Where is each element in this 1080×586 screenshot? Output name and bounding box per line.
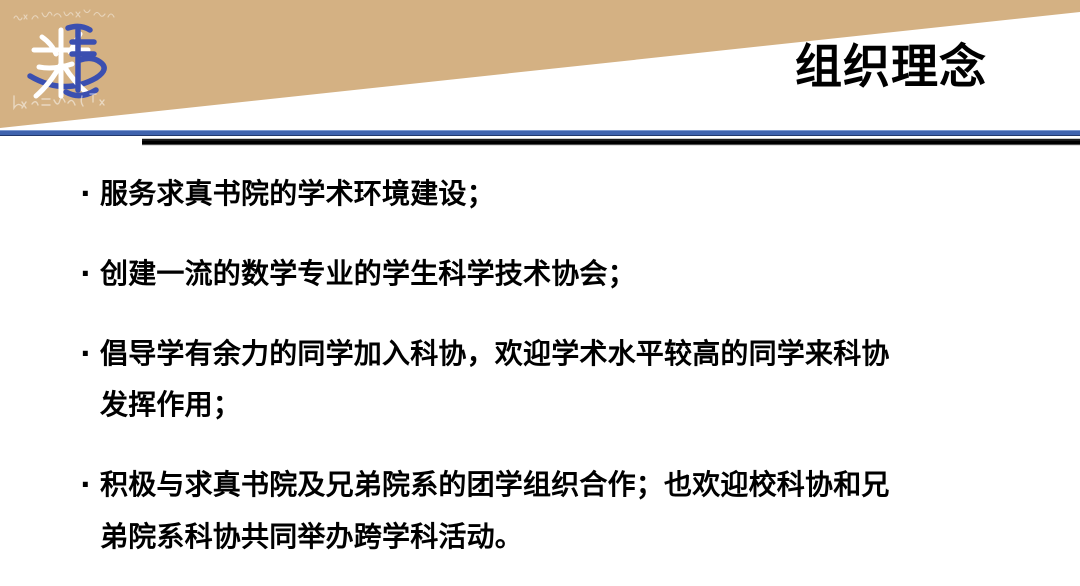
bullet-list: · 服务求真书院的学术环境建设； · 创建一流的数学专业的学生科学技术协会； ·…	[78, 168, 1038, 563]
list-item-line: 弟院系科协共同举办跨学科活动。	[100, 511, 1038, 563]
list-item-line: 创建一流的数学专业的学生科学技术协会；	[100, 248, 1038, 300]
divider-black	[142, 138, 1080, 146]
list-item: · 倡导学有余力的同学加入科协，欢迎学术水平较高的同学来科协 发挥作用；	[78, 328, 1038, 432]
list-item: · 创建一流的数学专业的学生科学技术协会；	[78, 248, 1038, 300]
list-item-line: 积极与求真书院及兄弟院系的团学组织合作；也欢迎校科协和兄	[100, 459, 1038, 511]
list-item: · 积极与求真书院及兄弟院系的团学组织合作；也欢迎校科协和兄 弟院系科协共同举办…	[78, 459, 1038, 563]
presentation-slide: 组织理念 · 服务求真书院的学术环境建设； · 创建一流的数学专业的学生科学技术…	[0, 0, 1080, 586]
list-item-line: 倡导学有余力的同学加入科协，欢迎学术水平较高的同学来科协	[100, 328, 1038, 380]
list-item-line: 发挥作用；	[100, 379, 1038, 431]
bullet-marker-icon: ·	[80, 168, 96, 220]
bullet-marker-icon: ·	[80, 459, 96, 511]
page-title: 组织理念	[795, 44, 987, 91]
bullet-marker-icon: ·	[80, 248, 96, 300]
qiuzhen-college-logo	[6, 4, 134, 116]
divider-blue	[0, 130, 1080, 136]
list-item-line: 服务求真书院的学术环境建设；	[100, 168, 1038, 220]
bullet-marker-icon: ·	[80, 328, 96, 380]
list-item: · 服务求真书院的学术环境建设；	[78, 168, 1038, 220]
